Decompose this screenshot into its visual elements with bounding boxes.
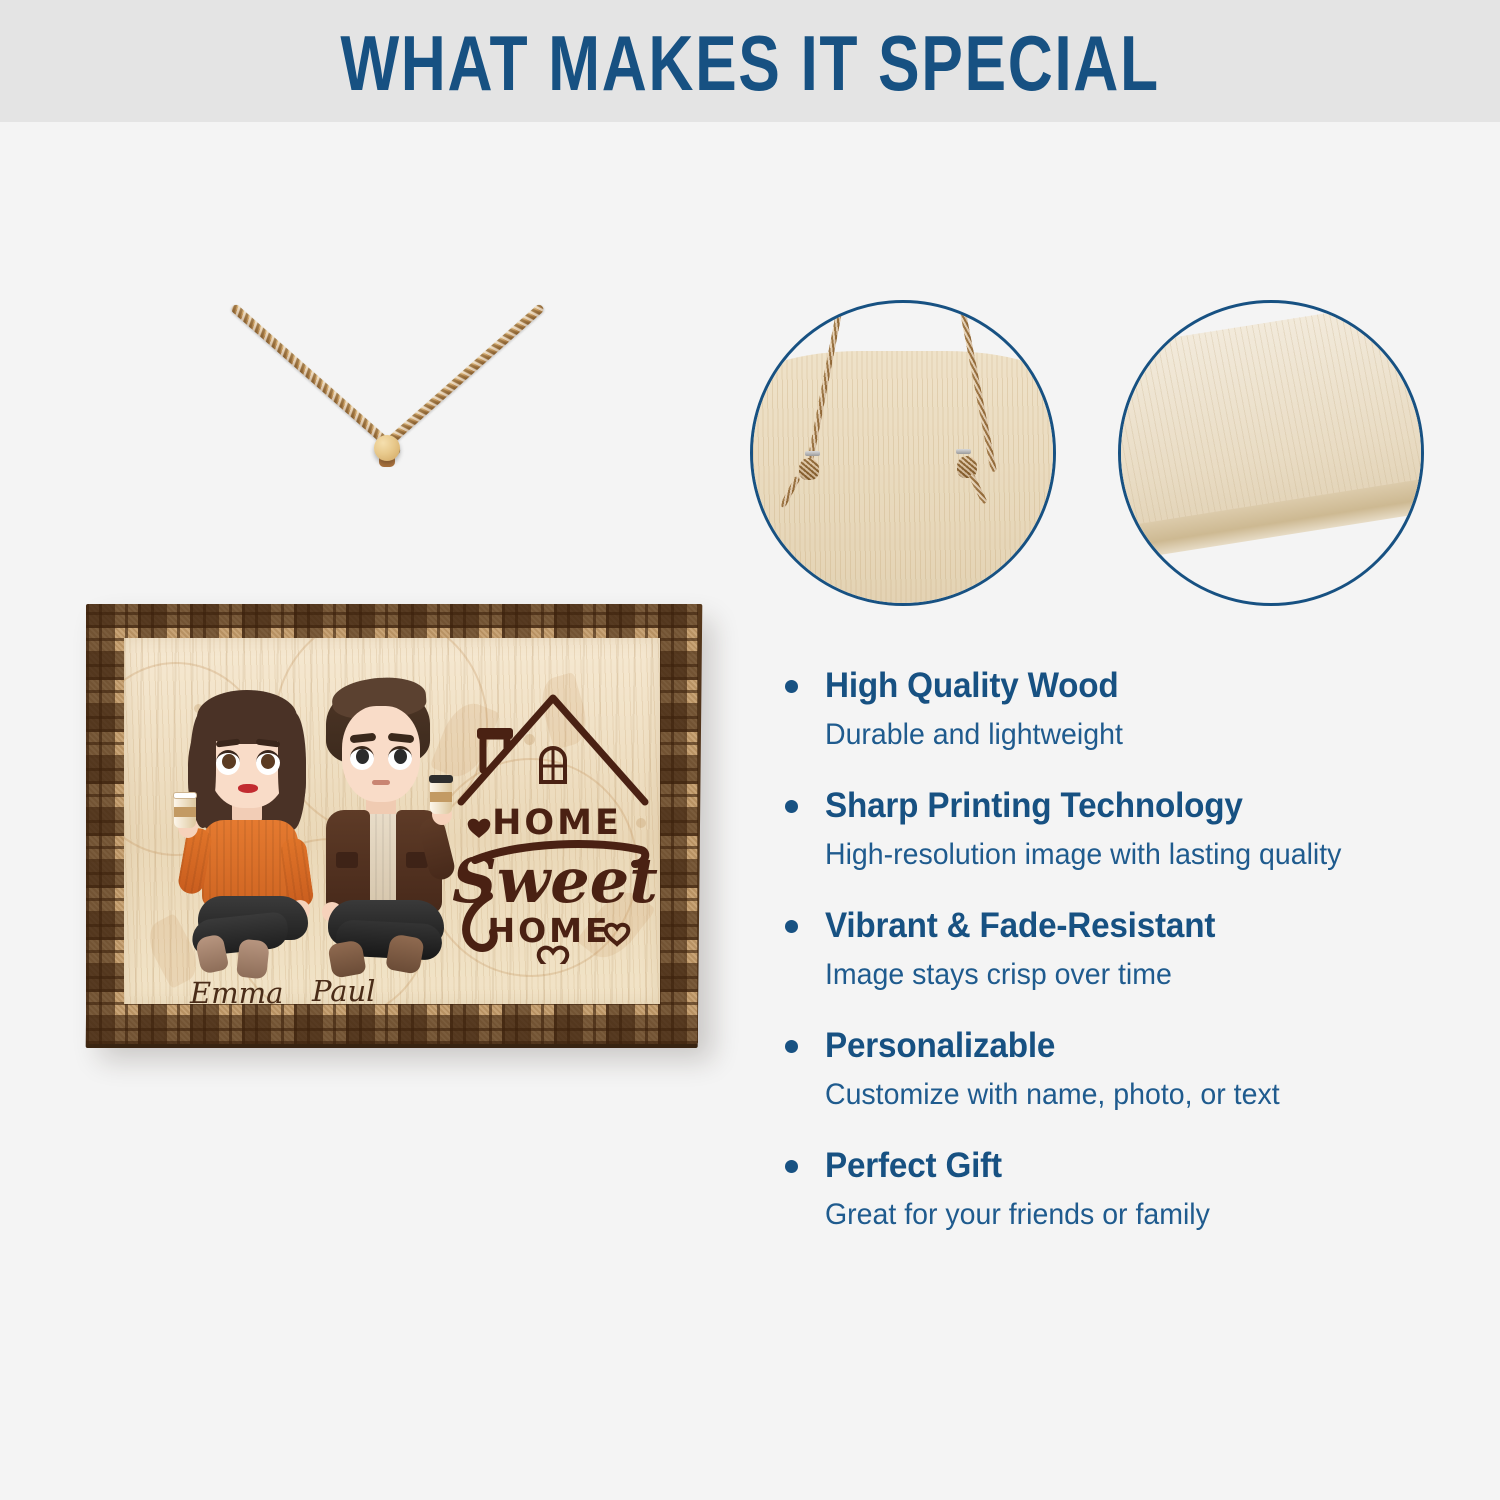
bullet-icon — [785, 1040, 798, 1053]
feature-subtitle: High-resolution image with lasting quali… — [825, 834, 1433, 876]
home-sweet-home-lettering: HOME Sweet HOME — [449, 674, 660, 964]
wall-peg-icon — [374, 435, 400, 461]
bullet-icon — [785, 800, 798, 813]
feature-item: Sharp Printing Technology High-resolutio… — [785, 782, 1465, 876]
staple-left — [805, 451, 820, 456]
lettering-home-top: HOME — [492, 803, 622, 843]
rope-right — [373, 303, 545, 457]
bullet-icon — [785, 920, 798, 933]
feature-item: Personalizable Customize with name, phot… — [785, 1022, 1465, 1116]
sign-panel: HOME Sweet HOME — [124, 638, 660, 1004]
feature-item: High Quality Wood Durable and lightweigh… — [785, 662, 1465, 756]
lettering-sweet: Sweet — [452, 844, 658, 917]
feature-subtitle: Durable and lightweight — [825, 714, 1433, 756]
feature-list: High Quality Wood Durable and lightweigh… — [785, 662, 1465, 1262]
feature-title: Personalizable — [825, 1022, 1433, 1070]
bullet-icon — [785, 1160, 798, 1173]
feature-title: Sharp Printing Technology — [825, 782, 1433, 830]
infographic-page: WHAT MAKES IT SPECIAL — [0, 0, 1500, 1500]
name-label-emma: Emma — [190, 976, 283, 1004]
page-title: WHAT MAKES IT SPECIAL — [150, 16, 1350, 110]
feature-subtitle: Customize with name, photo, or text — [825, 1074, 1433, 1116]
feature-title: High Quality Wood — [825, 662, 1433, 710]
feature-title: Vibrant & Fade-Resistant — [825, 902, 1433, 950]
name-label-paul: Paul — [312, 974, 375, 1004]
feature-item: Perfect Gift Great for your friends or f… — [785, 1142, 1465, 1236]
feature-subtitle: Great for your friends or family — [825, 1194, 1433, 1236]
feature-item: Vibrant & Fade-Resistant Image stays cri… — [785, 902, 1465, 996]
feature-subtitle: Image stays crisp over time — [825, 954, 1433, 996]
product-image: HOME Sweet HOME — [0, 122, 745, 1500]
staple-right — [956, 449, 971, 454]
rope-left — [230, 303, 402, 457]
rope-knot-left — [799, 458, 819, 480]
detail-circle-wood-edge — [1118, 300, 1424, 606]
detail-circle-rope-hanger — [750, 300, 1056, 606]
lettering-home-bottom: HOME — [487, 911, 610, 950]
bullet-icon — [785, 680, 798, 693]
wooden-sign: HOME Sweet HOME — [86, 604, 698, 1044]
feature-title: Perfect Gift — [825, 1142, 1433, 1190]
coffee-cup-icon — [174, 796, 196, 828]
